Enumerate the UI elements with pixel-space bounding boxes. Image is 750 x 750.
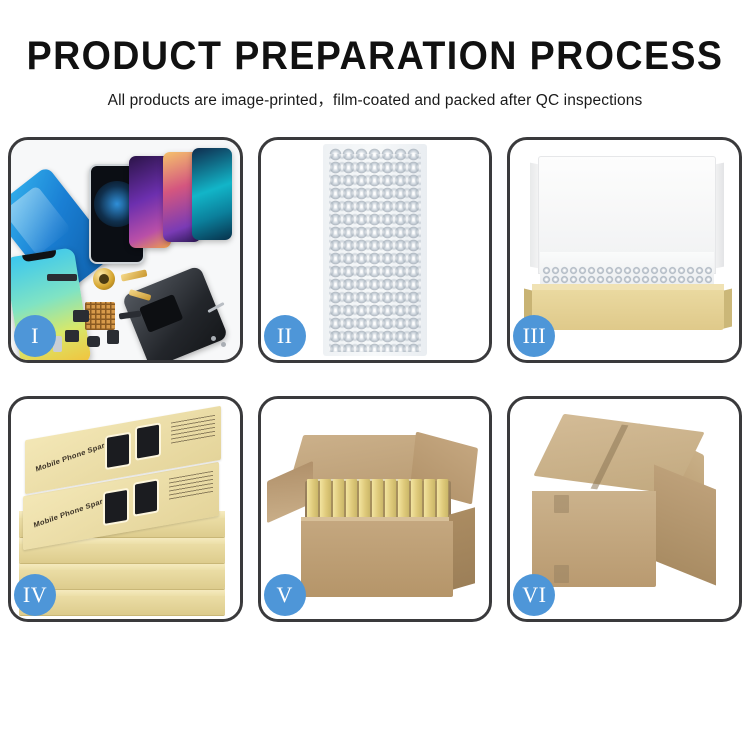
steps-grid: I II [8,137,742,622]
phone-teal [192,148,232,240]
retail-box-phone-img-d [135,481,157,515]
connector-part-2 [73,310,89,322]
step-card-5[interactable]: V [258,396,493,622]
step-badge-1: I [14,315,56,357]
screw-part-2 [221,342,226,347]
connector-part-1 [47,274,77,281]
mesh-grid-part [85,302,115,330]
steps-row-2: Mobile Phone Spare Parts Mobile Phone Sp… [8,396,742,622]
step-card-1[interactable]: I [8,137,243,363]
step-badge-5: V [264,574,306,616]
carton-front-panel [301,521,453,597]
retail-box-phone-img-b [137,425,159,459]
retail-box-phone-img-a [107,434,129,468]
retail-box-phone-img-c [105,490,127,524]
step-card-6[interactable]: VI [507,396,742,622]
retail-box-spec-lines-2 [169,471,213,501]
camera-ring-part [93,268,115,290]
steps-row-1: I II [8,137,742,363]
connector-part-5 [107,330,119,344]
step-card-3[interactable]: III [507,137,742,363]
box-front-panel [532,290,724,330]
flex-cable-part-1 [121,269,148,281]
carton-tape-mark-bottom [554,565,569,583]
sealed-carton-side [654,464,716,585]
bubble-wrap-bubbles-layer2 [329,154,421,352]
step-card-4[interactable]: Mobile Phone Spare Parts Mobile Phone Sp… [8,396,243,622]
screw-part-1 [211,336,216,341]
carton-tape-mark-top [554,495,569,513]
page-title: PRODUCT PREPARATION PROCESS [23,36,728,76]
retail-box-spec-lines-1 [171,415,215,445]
step-badge-2: II [264,315,306,357]
connector-part-4 [87,336,100,347]
connector-part-3 [65,330,79,342]
page-subtitle: All products are image-printed，film-coat… [0,88,750,110]
header: PRODUCT PREPARATION PROCESS All products… [0,0,750,110]
step-badge-4: IV [14,574,56,616]
sealed-carton-front [532,491,656,587]
step-card-2[interactable]: II [258,137,493,363]
product-preparation-infographic: PRODUCT PREPARATION PROCESS All products… [0,0,750,750]
